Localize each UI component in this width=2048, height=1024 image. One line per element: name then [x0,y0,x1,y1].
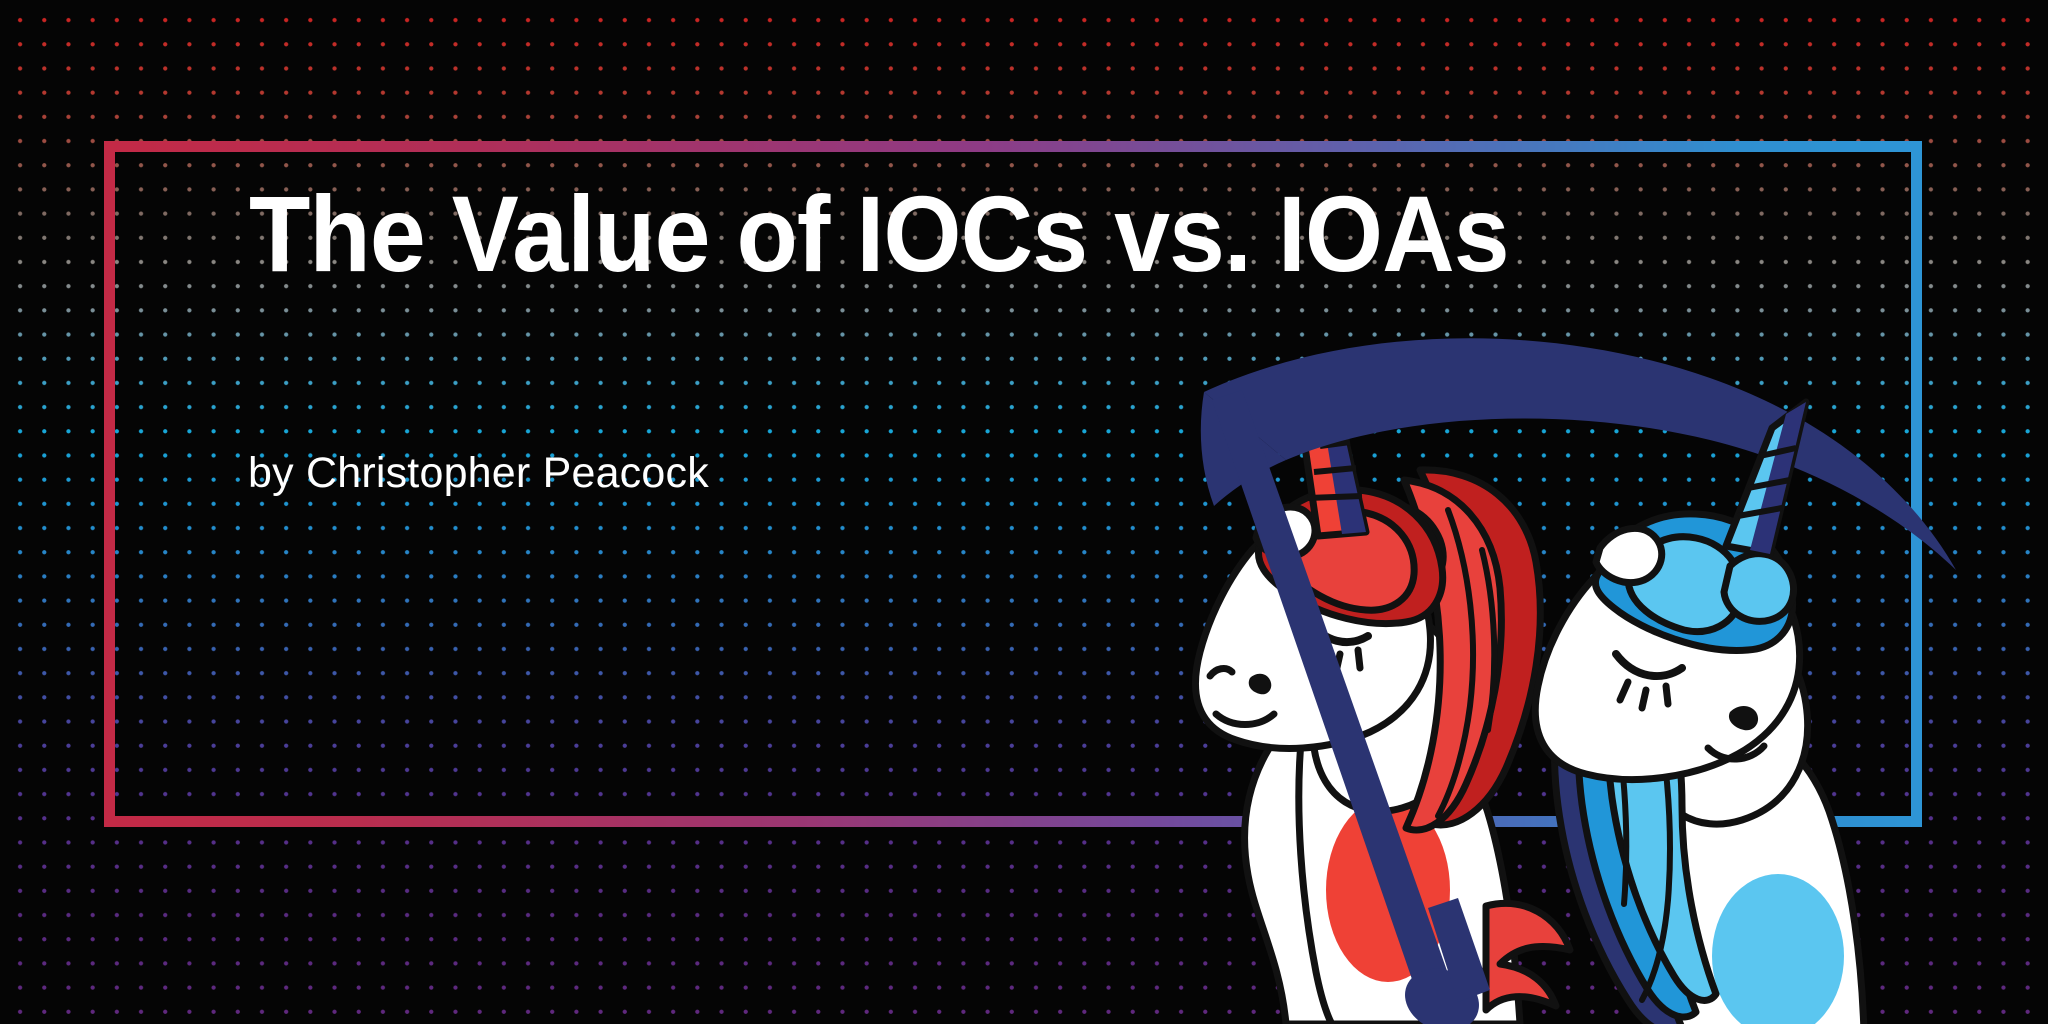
blue-unicorn-figure [1535,402,1864,1024]
slide-canvas: The Value of IOCs vs. IOAs by Christophe… [0,0,2048,1024]
author-byline: by Christopher Peacock [248,452,709,495]
page-title: The Value of IOCs vs. IOAs [249,180,1509,288]
unicorn-illustration [1190,300,2048,1024]
